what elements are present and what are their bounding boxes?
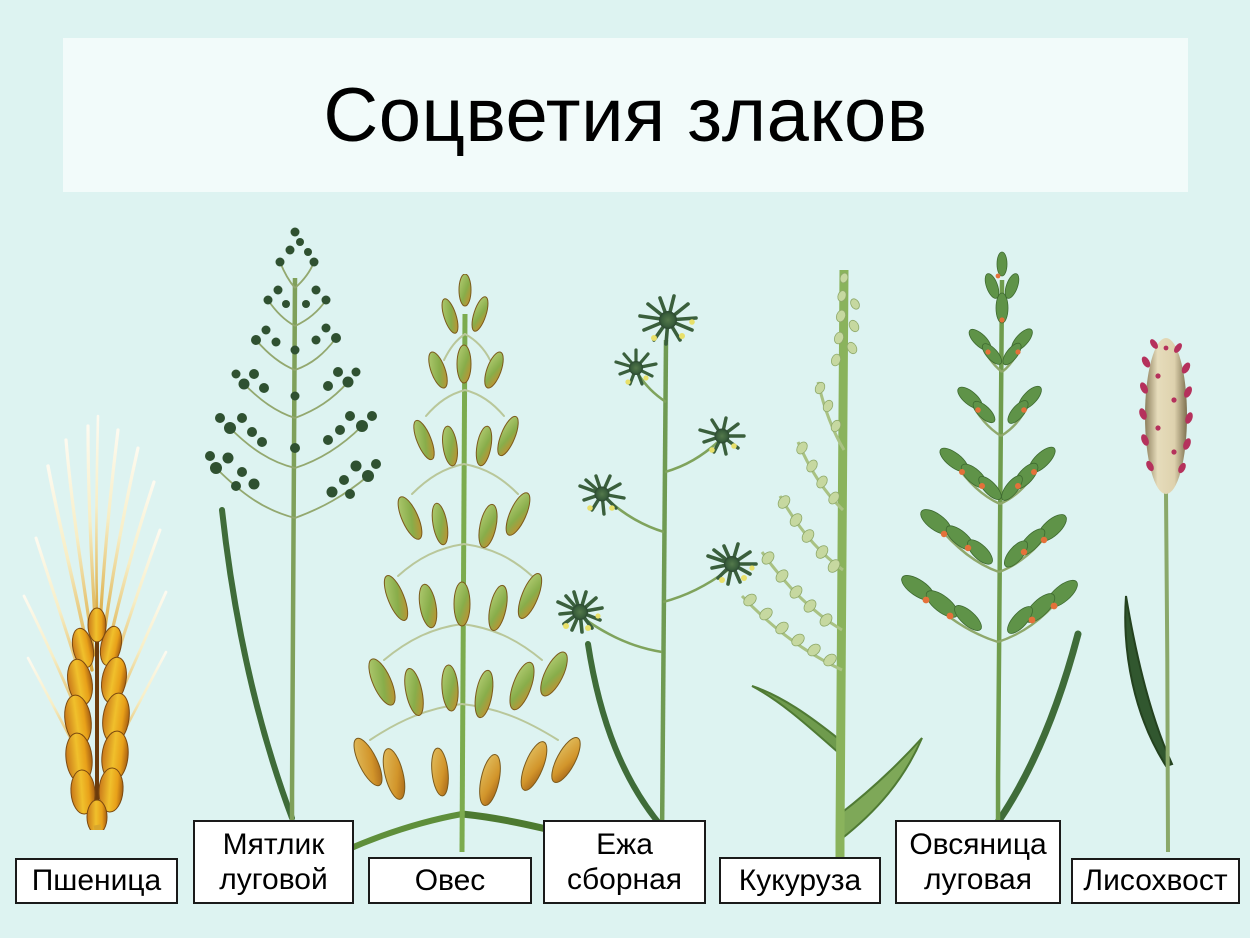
label-line: Лисохвост	[1083, 863, 1227, 898]
cocksfoot-leaf	[588, 644, 662, 827]
plant-illustration-fescue	[880, 242, 1100, 852]
page-title: Соцветия злаков	[63, 38, 1188, 192]
label-pshenica[interactable]: Пшеница	[15, 858, 178, 904]
foxtail-leaf	[1125, 596, 1172, 766]
illustration-stage	[0, 190, 1250, 870]
label-line: Пшеница	[32, 863, 162, 898]
slide: Соцветия злаков	[0, 0, 1250, 938]
foxtail-culm	[1166, 492, 1168, 852]
label-line: луговой	[219, 862, 328, 897]
label-line: сборная	[567, 862, 682, 897]
label-line: Кукуруза	[739, 863, 861, 898]
wheat-culm	[97, 825, 98, 830]
label-kukuruza[interactable]: Кукуруза	[719, 857, 881, 904]
meadow-grass-culm	[292, 278, 295, 833]
oat-leaf-2	[342, 814, 462, 852]
cocksfoot-culm	[662, 340, 666, 840]
label-line: Овес	[415, 863, 486, 898]
title-banner: Соцветия злаков	[63, 38, 1188, 192]
plant-illustration-wheat	[8, 370, 188, 830]
label-line: Овсяница	[909, 827, 1046, 862]
label-ezha-sbornaya[interactable]: Ежа сборная	[543, 820, 706, 904]
maize-leaf-mid	[752, 686, 840, 754]
meadow-grass-leaf	[222, 510, 292, 818]
label-lisohvost[interactable]: Лисохвост	[1071, 858, 1240, 904]
fescue-leaf	[998, 634, 1078, 822]
label-line: Ежа	[596, 827, 653, 862]
label-oves[interactable]: Овес	[368, 857, 532, 904]
label-line: луговая	[924, 862, 1032, 897]
fescue-spikelets	[898, 252, 1082, 637]
label-ovsyanica-lugovaya[interactable]: Овсяница луговая	[895, 820, 1061, 904]
plant-illustration-foxtail	[1108, 296, 1238, 856]
label-line: Мятлик	[223, 827, 325, 862]
label-myatlik-lugovoy[interactable]: Мятлик луговой	[193, 820, 354, 904]
